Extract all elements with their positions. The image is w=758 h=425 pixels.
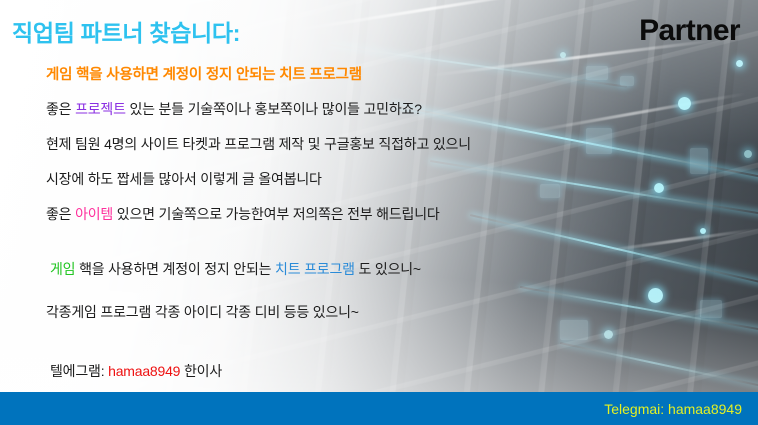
body-line-5-tail: 도 있으니~ [355,261,421,277]
body-line-2: 현제 팀원 4명의 사이트 타켓과 프로그램 제작 및 구글홍보 직접하고 있으… [46,134,471,154]
body-line-2-text: 현제 팀원 4명의 사이트 타켓과 프로그램 제작 및 구글홍보 직접하고 있으… [46,136,471,152]
footer-telegram-contact[interactable]: Telegmai: hamaa8949 [604,401,742,417]
contact-handle[interactable]: hamaa8949 [108,363,180,379]
body-line-1-part-a: 좋은 [46,101,75,117]
contact-label: 텔에그램: [50,363,108,379]
body-line-4: 좋은 아이템 있으면 기술쪽으로 가능한여부 저의쪽은 전부 해드립니다 [46,204,440,224]
slide-content: 직업팀 파트너 찾습니다: Partner 게임 핵을 사용하면 계정이 정지 … [0,0,758,425]
contact-suffix: 한이사 [180,363,222,379]
body-line-3: 시장에 하도 짭세들 많아서 이렇게 글 올여봅니다 [46,169,322,189]
body-line-6: 각종게임 프로그램 각종 아이디 각종 디비 등등 있으니~ [46,302,359,322]
body-line-6-text: 각종게임 프로그램 각종 아이디 각종 디비 등등 있으니~ [46,304,359,320]
contact-line: 텔에그램: hamaa8949 한이사 [50,361,222,381]
body-line-5-highlight-game: 게임 [50,261,75,277]
headline-text: 게임 핵을 사용하면 계정이 정지 안되는 치트 프로그램 [46,63,362,84]
body-line-4-part-a: 좋은 [46,206,75,222]
body-line-1: 좋은 프로젝트 있는 분들 기술쪽이나 홍보쪽이나 많이들 고민하죠? [46,99,422,119]
slide-canvas: 직업팀 파트너 찾습니다: Partner 게임 핵을 사용하면 계정이 정지 … [0,0,758,425]
page-title: 직업팀 파트너 찾습니다: [12,14,240,48]
footer-bar: Telegmai: hamaa8949 [0,392,758,425]
body-line-5: 게임 핵을 사용하면 계정이 정지 안되는 치트 프로그램 도 있으니~ [50,259,421,279]
body-line-1-highlight: 프로젝트 [75,101,126,117]
brand-logo-text: Partner [639,14,740,48]
body-line-1-part-b: 있는 분들 기술쪽이나 홍보쪽이나 많이들 고민하죠? [126,101,422,117]
body-line-5-mid: 핵을 사용하면 계정이 정지 안되는 [75,261,275,277]
body-line-4-part-b: 있으면 기술쪽으로 가능한여부 저의쪽은 전부 해드립니다 [113,206,439,222]
body-line-4-highlight: 아이템 [75,206,113,222]
body-line-5-highlight-cheat-program: 치트 프로그램 [275,261,355,277]
body-line-3-text: 시장에 하도 짭세들 많아서 이렇게 글 올여봅니다 [46,171,322,187]
